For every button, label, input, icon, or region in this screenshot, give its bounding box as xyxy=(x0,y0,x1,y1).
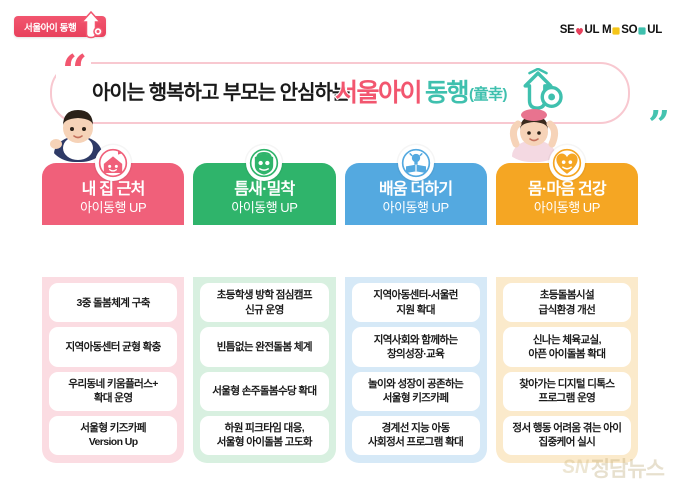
card-body-learning-plus: 지역아동센터-서울런 지원 확대 지역사회와 함께하는 창의성장·교육 놀이와 … xyxy=(345,277,487,463)
list-item[interactable]: 경계선 지능 아동 사회정서 프로그램 확대 xyxy=(352,416,480,455)
house-flag-icon xyxy=(95,145,131,181)
seoul-ai-donghaeng-badge: 서울아이 동행 xyxy=(14,16,106,37)
card-gap-close-care[interactable]: 틈새·밀착 아이동행 UP 초등학생 방학 점심캠프 신규 운영 빈틈없는 완전… xyxy=(193,163,335,463)
card-title: 내 집 근처 xyxy=(82,181,145,199)
watermark-mark: SN xyxy=(562,457,588,479)
seoul-my-soul-logo: SE UL M SO UL xyxy=(560,24,662,36)
logo-text-ul: UL xyxy=(647,24,662,36)
logo-text-so: SO xyxy=(621,24,637,36)
list-item[interactable]: 초등돌봄시설 급식환경 개선 xyxy=(503,283,631,322)
shield-badge-icon xyxy=(246,145,282,181)
watermark-text: 정담뉴스 xyxy=(591,453,664,483)
heart-smile-icon xyxy=(549,145,585,181)
list-item[interactable]: 3중 돌봄체계 구축 xyxy=(49,283,177,322)
logo-text-ul-m: UL M xyxy=(585,24,612,36)
card-body-gap-close-care: 초등학생 방학 점심캠프 신규 운영 빈틈없는 완전돌봄 체계 서울형 손주돌봄… xyxy=(193,277,335,463)
headline-left-text: 아이는 행복하고 부모는 안심하는 xyxy=(92,76,349,105)
list-item[interactable]: 서울형 손주돌봄수당 확대 xyxy=(200,372,328,411)
quote-close-mark: ” xyxy=(648,106,668,144)
policy-cards-row: 내 집 근처 아이동행 UP 3중 돌봄체계 구축 지역아동센터 균형 확충 우… xyxy=(42,163,638,463)
card-title: 배움 더하기 xyxy=(379,181,452,199)
up-arrow-icon xyxy=(78,11,104,39)
list-item[interactable]: 빈틈없는 완전돌봄 체계 xyxy=(200,327,328,366)
list-item[interactable]: 지역사회와 함께하는 창의성장·교육 xyxy=(352,327,480,366)
headline-brand-seoul-ai: 서울아이 xyxy=(335,73,421,109)
heart-icon xyxy=(575,27,584,36)
list-item[interactable]: 찾아가는 디지털 디톡스 프로그램 운영 xyxy=(503,372,631,411)
headline-brand-donghaeng: 동행 xyxy=(425,73,468,109)
card-body-mind-health[interactable]: 몸·마음 건강 아이동행 UP 초등돌봄시설 급식환경 개선 신나는 체육교실,… xyxy=(496,163,638,463)
list-item[interactable]: 초등학생 방학 점심캠프 신규 운영 xyxy=(200,283,328,322)
list-item[interactable]: 정서 행동 어려움 겪는 아이 집중케어 실시 xyxy=(503,416,631,455)
card-subtitle: 아이동행 UP xyxy=(383,200,449,216)
card-title: 몸·마음 건강 xyxy=(528,181,606,199)
list-item[interactable]: 하원 피크타임 대응, 서울형 아이돌봄 고도화 xyxy=(200,416,328,455)
card-learning-plus[interactable]: 배움 더하기 아이동행 UP 지역아동센터-서울런 지원 확대 지역사회와 함께… xyxy=(345,163,487,463)
list-item[interactable]: 서울형 키즈카페 Version Up xyxy=(49,416,177,455)
card-subtitle: 아이동행 UP xyxy=(231,200,297,216)
book-lightbulb-icon xyxy=(398,145,434,181)
infographic-page: 서울아이 동행 SE UL M SO UL “ ” 아이는 행복하고 부모는 안… xyxy=(0,0,678,491)
card-body-near-home: 3중 돌봄체계 구축 지역아동센터 균형 확충 우리동네 키움플러스+ 확대 운… xyxy=(42,277,184,463)
list-item[interactable]: 신나는 체육교실, 아픈 아이돌봄 확대 xyxy=(503,327,631,366)
dot-icon xyxy=(612,27,620,35)
card-near-home[interactable]: 내 집 근처 아이동행 UP 3중 돌봄체계 구축 지역아동센터 균형 확충 우… xyxy=(42,163,184,463)
list-item[interactable]: 지역아동센터-서울런 지원 확대 xyxy=(352,283,480,322)
badge-label: 서울아이 동행 xyxy=(24,20,76,34)
card-subtitle: 아이동행 UP xyxy=(80,200,146,216)
card-subtitle: 아이동행 UP xyxy=(534,200,600,216)
headline-hanja: (童幸) xyxy=(469,83,507,104)
card-body-health: 초등돌봄시설 급식환경 개선 신나는 체육교실, 아픈 아이돌봄 확대 찾아가는… xyxy=(496,277,638,463)
logo-text-se: SE xyxy=(560,24,575,36)
card-title: 틈새·밀착 xyxy=(234,181,294,199)
list-item[interactable]: 놀이와 성장이 공존하는 서울형 키즈카페 xyxy=(352,372,480,411)
list-item[interactable]: 우리동네 키움플러스+ 확대 운영 xyxy=(49,372,177,411)
square-icon xyxy=(638,27,646,35)
list-item[interactable]: 지역아동센터 균형 확충 xyxy=(49,327,177,366)
quote-open-mark: “ xyxy=(56,50,91,94)
watermark: SN 정담뉴스 xyxy=(562,453,664,483)
